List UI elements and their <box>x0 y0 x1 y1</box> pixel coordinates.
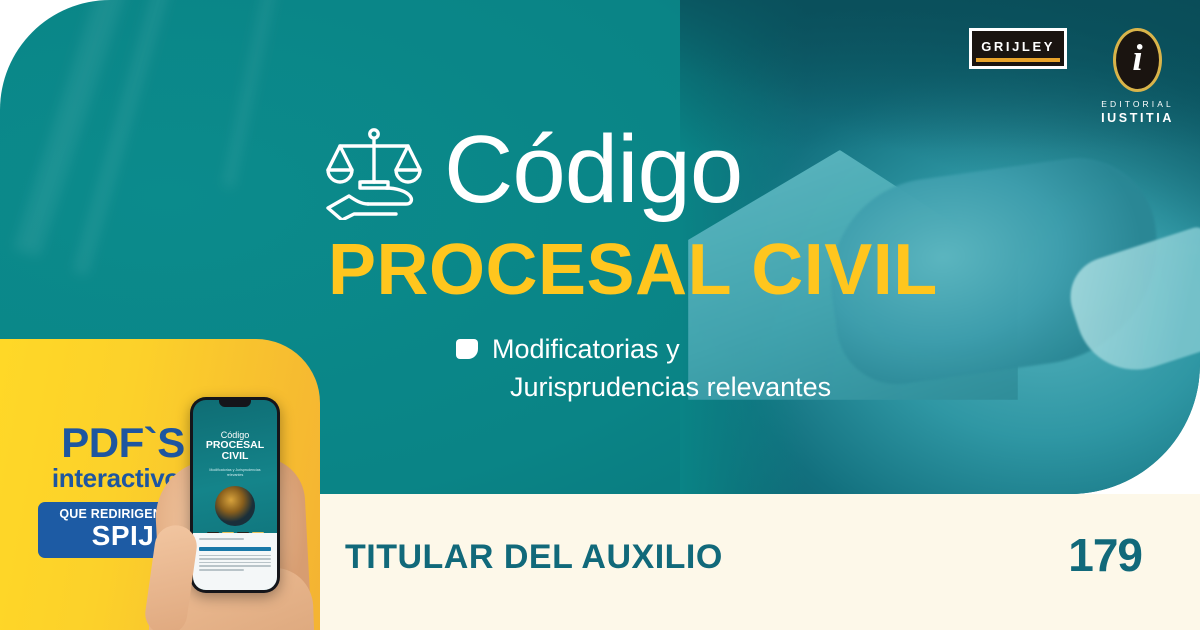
phone-mini-title-procesal: PROCESAL CIVIL <box>193 440 277 462</box>
title-line-procesal-civil: PROCESAL CIVIL <box>328 234 980 306</box>
footer-page-number: 179 <box>1068 528 1142 582</box>
promo-smartphone[interactable]: Código PROCESAL CIVIL Modificatorias y J… <box>190 397 280 593</box>
phone-mini-emblem <box>215 486 255 526</box>
logo-group: GRIJLEY i EDITORIAL IUSTITIA <box>969 28 1174 125</box>
iustitia-monogram-oval: i <box>1113 28 1162 92</box>
phone-mini-text-line <box>199 555 271 557</box>
editorial-iustitia-logo[interactable]: i EDITORIAL IUSTITIA <box>1101 28 1174 125</box>
title-block: Código PROCESAL CIVIL Modificatorias y J… <box>320 120 980 407</box>
phone-mini-text-line <box>199 569 244 571</box>
subtitle-row: Modificatorias y Jurisprudencias relevan… <box>456 330 980 407</box>
phone-mini-text-line <box>199 565 271 567</box>
phone-mini-text-line <box>199 538 244 540</box>
grijley-logo-text: GRIJLEY <box>981 40 1055 58</box>
phone-mini-text-line <box>199 562 271 564</box>
phone-mini-subtitle: Modificatorias y Jurisprudencias relevan… <box>205 468 265 479</box>
promo-panel: Código PROCESAL CIVIL Modificatorias y J… <box>0 339 320 630</box>
phone-mini-cover: Código PROCESAL CIVIL Modificatorias y J… <box>193 400 277 533</box>
book-cover-banner: GRIJLEY i EDITORIAL IUSTITIA <box>0 0 1200 630</box>
iustitia-label-editorial: EDITORIAL <box>1101 99 1174 109</box>
iustitia-label-iustitia: IUSTITIA <box>1101 111 1174 125</box>
light-streak-3 <box>223 0 287 188</box>
phone-mini-civil: CIVIL <box>222 450 249 462</box>
rounded-square-bullet-icon <box>456 339 478 359</box>
phone-mini-highlight-bar <box>199 547 271 551</box>
subtitle-line-2: Jurisprudencias relevantes <box>510 368 831 406</box>
phone-mini-text-line <box>199 558 271 560</box>
grijley-logo-bar <box>976 58 1060 62</box>
subtitle-line-1: Modificatorias y <box>492 334 680 364</box>
footer-section-title: TITULAR DEL AUXILIO <box>345 538 723 577</box>
grijley-logo[interactable]: GRIJLEY <box>969 28 1067 69</box>
scales-of-justice-in-hand-icon <box>320 120 428 220</box>
title-line-codigo: Código <box>444 124 742 215</box>
title-main-row: Código <box>320 120 980 220</box>
promo-headline: PDF`S <box>38 423 208 463</box>
phone-mini-page <box>193 533 277 590</box>
phone-notch <box>219 400 251 407</box>
iustitia-monogram-letter: i <box>1132 40 1142 77</box>
footer-bar: TITULAR DEL AUXILIO 179 <box>320 494 1200 630</box>
promo-phone-screen: Código PROCESAL CIVIL Modificatorias y J… <box>193 400 277 590</box>
subtitle-text: Modificatorias y Jurisprudencias relevan… <box>492 330 831 407</box>
